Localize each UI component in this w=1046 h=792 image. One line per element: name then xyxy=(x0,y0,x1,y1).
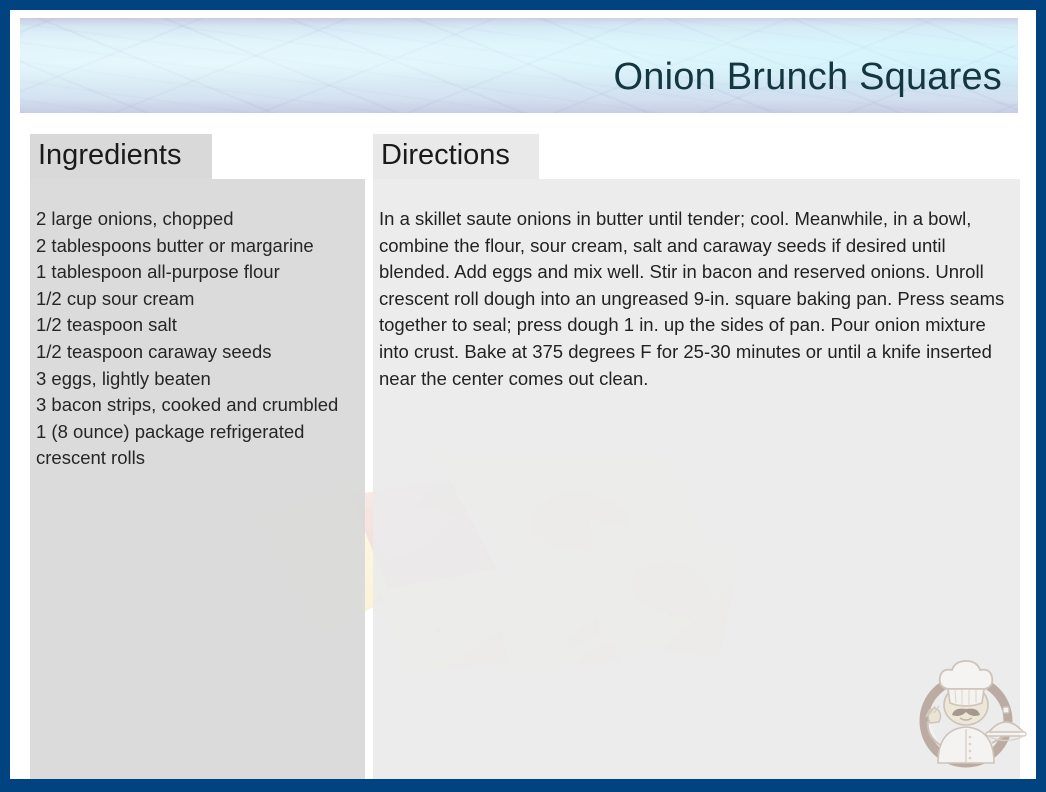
ingredients-heading: Ingredients xyxy=(38,139,182,172)
list-item: 3 bacon strips, cooked and crumbled xyxy=(36,392,358,419)
directions-heading-tab: Directions xyxy=(373,134,539,179)
page-title: Onion Brunch Squares xyxy=(614,58,1002,98)
list-item: 2 tablespoons butter or margarine xyxy=(36,233,358,260)
recipe-slide: Onion Brunch Squares xyxy=(0,0,1046,792)
ingredients-list: 2 large onions, chopped 2 tablespoons bu… xyxy=(36,206,358,472)
list-item: 1 (8 ounce) package refrigerated crescen… xyxy=(36,419,358,472)
title-banner: Onion Brunch Squares xyxy=(20,18,1018,113)
ingredients-heading-tab: Ingredients xyxy=(30,134,212,179)
list-item: 3 eggs, lightly beaten xyxy=(36,366,358,393)
directions-text: In a skillet saute onions in butter unti… xyxy=(379,206,1017,392)
list-item: 1/2 teaspoon salt xyxy=(36,312,358,339)
list-item: 1 tablespoon all-purpose flour xyxy=(36,259,358,286)
list-item: 1/2 teaspoon caraway seeds xyxy=(36,339,358,366)
list-item: 1/2 cup sour cream xyxy=(36,286,358,313)
chef-with-cloche-logo xyxy=(904,651,1028,775)
list-item: 2 large onions, chopped xyxy=(36,206,358,233)
ingredients-panel: 2 large onions, chopped 2 tablespoons bu… xyxy=(30,179,365,779)
slide-canvas: Onion Brunch Squares xyxy=(10,10,1036,779)
directions-heading: Directions xyxy=(381,139,510,172)
chef-logo-illustration xyxy=(904,651,1028,775)
